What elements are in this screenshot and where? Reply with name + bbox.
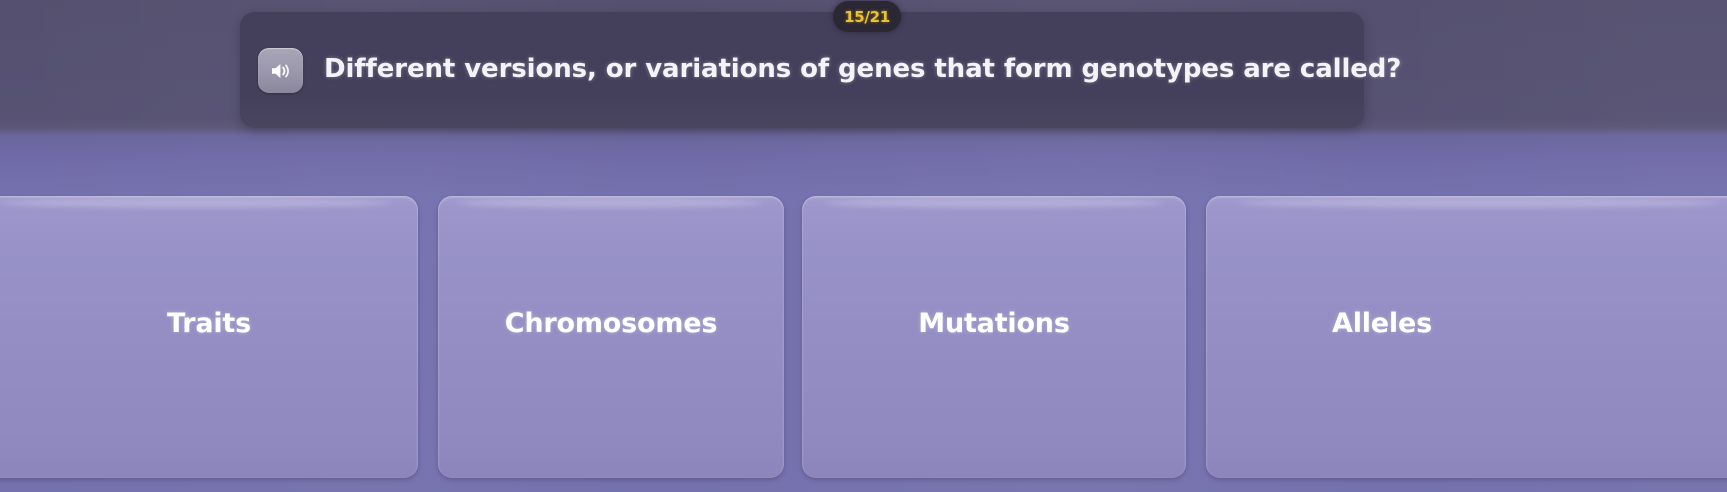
card-glare: [1239, 198, 1720, 208]
progress-badge: 15/21: [833, 1, 901, 32]
answer-option-mutations[interactable]: Mutations: [802, 196, 1186, 478]
answer-option-chromosomes[interactable]: Chromosomes: [438, 196, 784, 478]
card-glare: [1, 198, 392, 208]
answer-option-label: Alleles: [1206, 308, 1727, 339]
card-glare: [459, 198, 763, 208]
progress-count: 15/21: [844, 8, 890, 26]
answer-option-traits[interactable]: Traits: [0, 196, 418, 478]
card-glare: [825, 198, 1163, 208]
speaker-icon: [269, 61, 293, 81]
question-text: Different versions, or variations of gen…: [324, 52, 1348, 86]
quiz-screen: 15/21 Different versions, or variations …: [0, 0, 1727, 492]
question-bar: Different versions, or variations of gen…: [240, 12, 1364, 128]
answer-option-label: Chromosomes: [438, 308, 784, 339]
answer-option-label: Mutations: [802, 308, 1186, 339]
speaker-button[interactable]: [258, 48, 303, 93]
answer-option-label: Traits: [0, 308, 418, 339]
answer-options: Traits Chromosomes Mutations Alleles: [0, 196, 1727, 492]
answer-option-alleles[interactable]: Alleles: [1206, 196, 1727, 478]
